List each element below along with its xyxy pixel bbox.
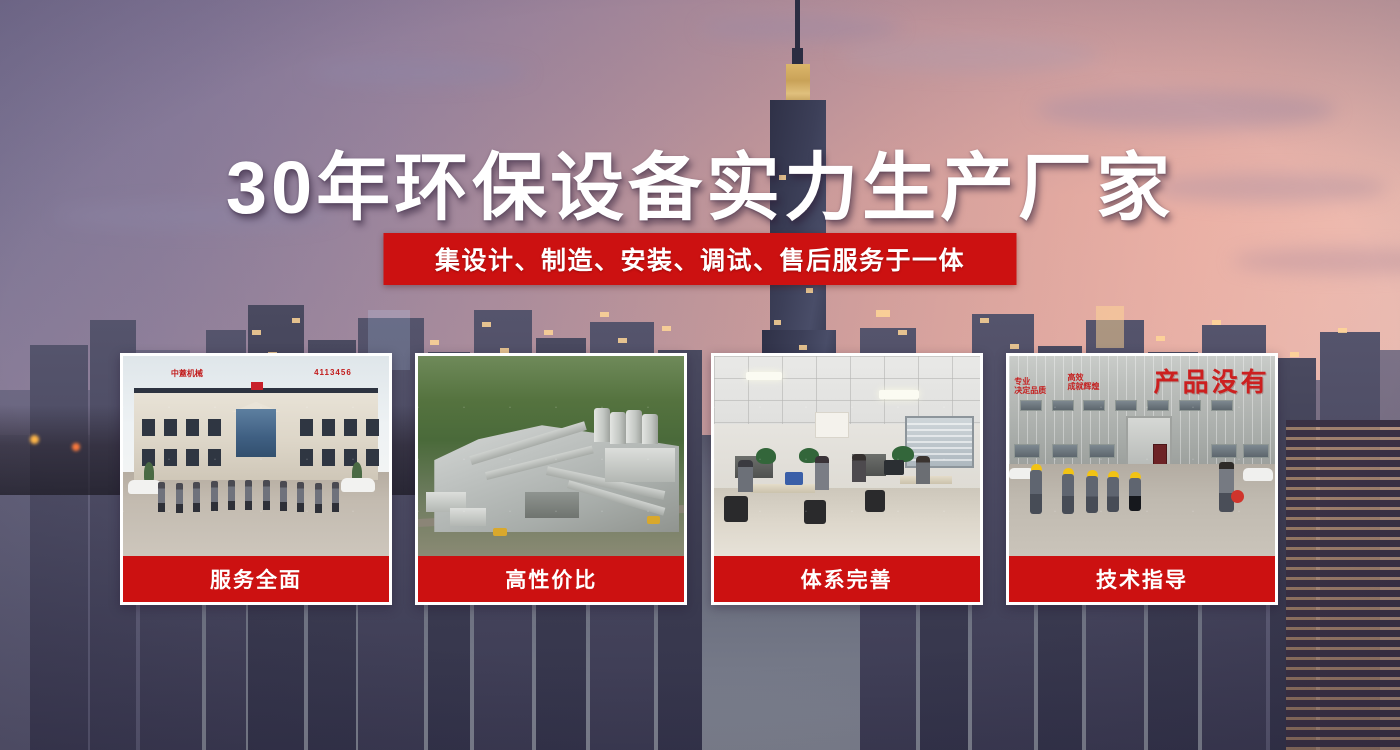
photo-side-door [1153, 444, 1167, 466]
card-photo-office-building: 中蓋机械 4113456 [123, 356, 389, 556]
card-photo-plant-aerial [418, 356, 684, 556]
building-window [1096, 306, 1124, 348]
photo-employee [738, 460, 753, 492]
photo-window [1014, 444, 1040, 458]
feature-card-service[interactable]: 中蓋机械 4113456 服务全面 [120, 353, 392, 605]
photo-shed [450, 508, 486, 526]
photo-shed [525, 492, 579, 518]
feature-card-list: 中蓋机械 4113456 服务全面 [120, 353, 1278, 605]
photo-window [322, 449, 335, 466]
photo-staff [158, 482, 165, 512]
photo-shed [605, 448, 675, 482]
photo-chair [804, 500, 826, 524]
photo-machinery [647, 516, 660, 524]
photo-worker-body [1086, 476, 1098, 513]
photo-window [1083, 400, 1105, 411]
photo-staff [228, 480, 235, 510]
photo-silo [626, 410, 642, 443]
photo-phone-number: 4113456 [314, 368, 352, 377]
photo-chair [724, 496, 748, 522]
skyline-building [1286, 420, 1400, 750]
photo-window [300, 419, 313, 436]
photo-silo [594, 408, 610, 442]
photo-staff [332, 482, 339, 512]
card-photo-office-interior [714, 356, 980, 556]
photo-ground [1009, 464, 1275, 556]
photo-building [134, 388, 379, 480]
photo-window [1211, 400, 1233, 411]
building-window [600, 312, 609, 317]
photo-employee [916, 456, 930, 484]
photo-window [1211, 444, 1237, 458]
building-window [1338, 328, 1347, 333]
photo-machinery [493, 528, 507, 536]
shore-light [72, 443, 80, 451]
photo-chair [865, 490, 885, 512]
page-title: 30年环保设备实力生产厂家 [0, 128, 1400, 235]
photo-window [1115, 400, 1137, 411]
photo-blind-slat [907, 429, 972, 431]
photo-flag [251, 382, 263, 390]
subtitle-text: 集设计、制造、安装、调试、售后服务于一体 [435, 241, 965, 277]
feature-card-guidance[interactable]: 产品没有 专业决定品质 高效成就辉煌 [1006, 353, 1278, 605]
photo-window [164, 449, 177, 466]
photo-window [186, 419, 199, 436]
photo-car [341, 478, 375, 492]
photo-window [1020, 400, 1042, 411]
card-label: 高性价比 [418, 556, 684, 602]
photo-silo [610, 412, 626, 444]
building-window [1156, 336, 1165, 341]
photo-monitor [884, 460, 904, 475]
building-window [662, 326, 671, 331]
photo-staff [211, 481, 218, 511]
card-label: 技术指导 [1009, 556, 1275, 602]
hero-banner: 30年环保设备实力生产厂家 集设计、制造、安装、调试、售后服务于一体 [0, 0, 1400, 750]
photo-silo [642, 414, 658, 444]
photo-window [1243, 444, 1269, 458]
photo-window [1052, 444, 1078, 458]
photo-blind-slat [907, 441, 972, 443]
photo-slogan-left: 专业决定品质 [1014, 378, 1046, 396]
photo-staff [193, 482, 200, 512]
photo-factory-sign: 产品没有 [1154, 362, 1270, 399]
photo-window [208, 419, 221, 436]
photo-window [1147, 400, 1169, 411]
building-window [1010, 344, 1019, 349]
photo-window [186, 449, 199, 466]
photo-window [1089, 444, 1115, 458]
photo-staff [297, 482, 304, 512]
building-window [482, 322, 491, 327]
building-window [876, 310, 890, 317]
tower-window [799, 345, 807, 350]
photo-ceiling-light [746, 372, 782, 380]
photo-employee [852, 454, 866, 482]
building-window [980, 318, 989, 323]
photo-window [322, 419, 335, 436]
shore-light [30, 435, 39, 444]
photo-blind-slat [907, 423, 972, 425]
photo-entrance-glass [236, 409, 275, 458]
feature-card-system[interactable]: 体系完善 [711, 353, 983, 605]
photo-blind-slat [907, 447, 972, 449]
photo-window [344, 419, 357, 436]
photo-window [366, 449, 379, 466]
building-window [1212, 320, 1221, 325]
photo-window [1179, 400, 1201, 411]
card-label: 服务全面 [123, 556, 389, 602]
photo-wall-poster [815, 412, 849, 438]
photo-floor [714, 488, 980, 556]
photo-potted-plant [756, 448, 776, 464]
photo-slogan-right: 高效成就辉煌 [1068, 374, 1100, 392]
building-window [430, 340, 439, 345]
tower-window [806, 288, 813, 293]
photo-window [366, 419, 379, 436]
photo-car [1243, 468, 1273, 481]
photo-company-sign: 中蓋机械 [171, 368, 203, 379]
photo-staff [263, 480, 270, 510]
photo-window [1052, 400, 1074, 411]
photo-worker-body [1129, 478, 1141, 511]
photo-desk [751, 484, 815, 493]
card-photo-factory-briefing: 产品没有 专业决定品质 高效成就辉煌 [1009, 356, 1275, 556]
feature-card-value[interactable]: 高性价比 [415, 353, 687, 605]
photo-worker-body [1062, 474, 1074, 514]
building-window [618, 338, 627, 343]
photo-window [208, 449, 221, 466]
card-label: 体系完善 [714, 556, 980, 602]
photo-blind-slat [907, 453, 972, 455]
tower-window [774, 320, 781, 325]
photo-ceiling-light [879, 390, 919, 399]
building-window [252, 330, 261, 335]
subtitle-banner: 集设计、制造、安装、调试、售后服务于一体 [384, 233, 1017, 285]
photo-monitor [785, 472, 803, 485]
photo-window [142, 419, 155, 436]
photo-staff [280, 481, 287, 511]
photo-worker-body [1107, 477, 1119, 512]
photo-supervisor-body [1219, 462, 1234, 512]
photo-staff [176, 483, 183, 513]
photo-staff [315, 483, 322, 513]
building-window [898, 330, 907, 335]
photo-employee [815, 456, 829, 490]
photo-staff [245, 480, 252, 510]
photo-worker-body [1030, 470, 1042, 514]
building-window [544, 330, 553, 335]
building-window [1290, 352, 1299, 357]
photo-window [164, 419, 177, 436]
photo-window [300, 449, 313, 466]
building-window [292, 318, 300, 323]
photo-blind-slat [907, 435, 972, 437]
